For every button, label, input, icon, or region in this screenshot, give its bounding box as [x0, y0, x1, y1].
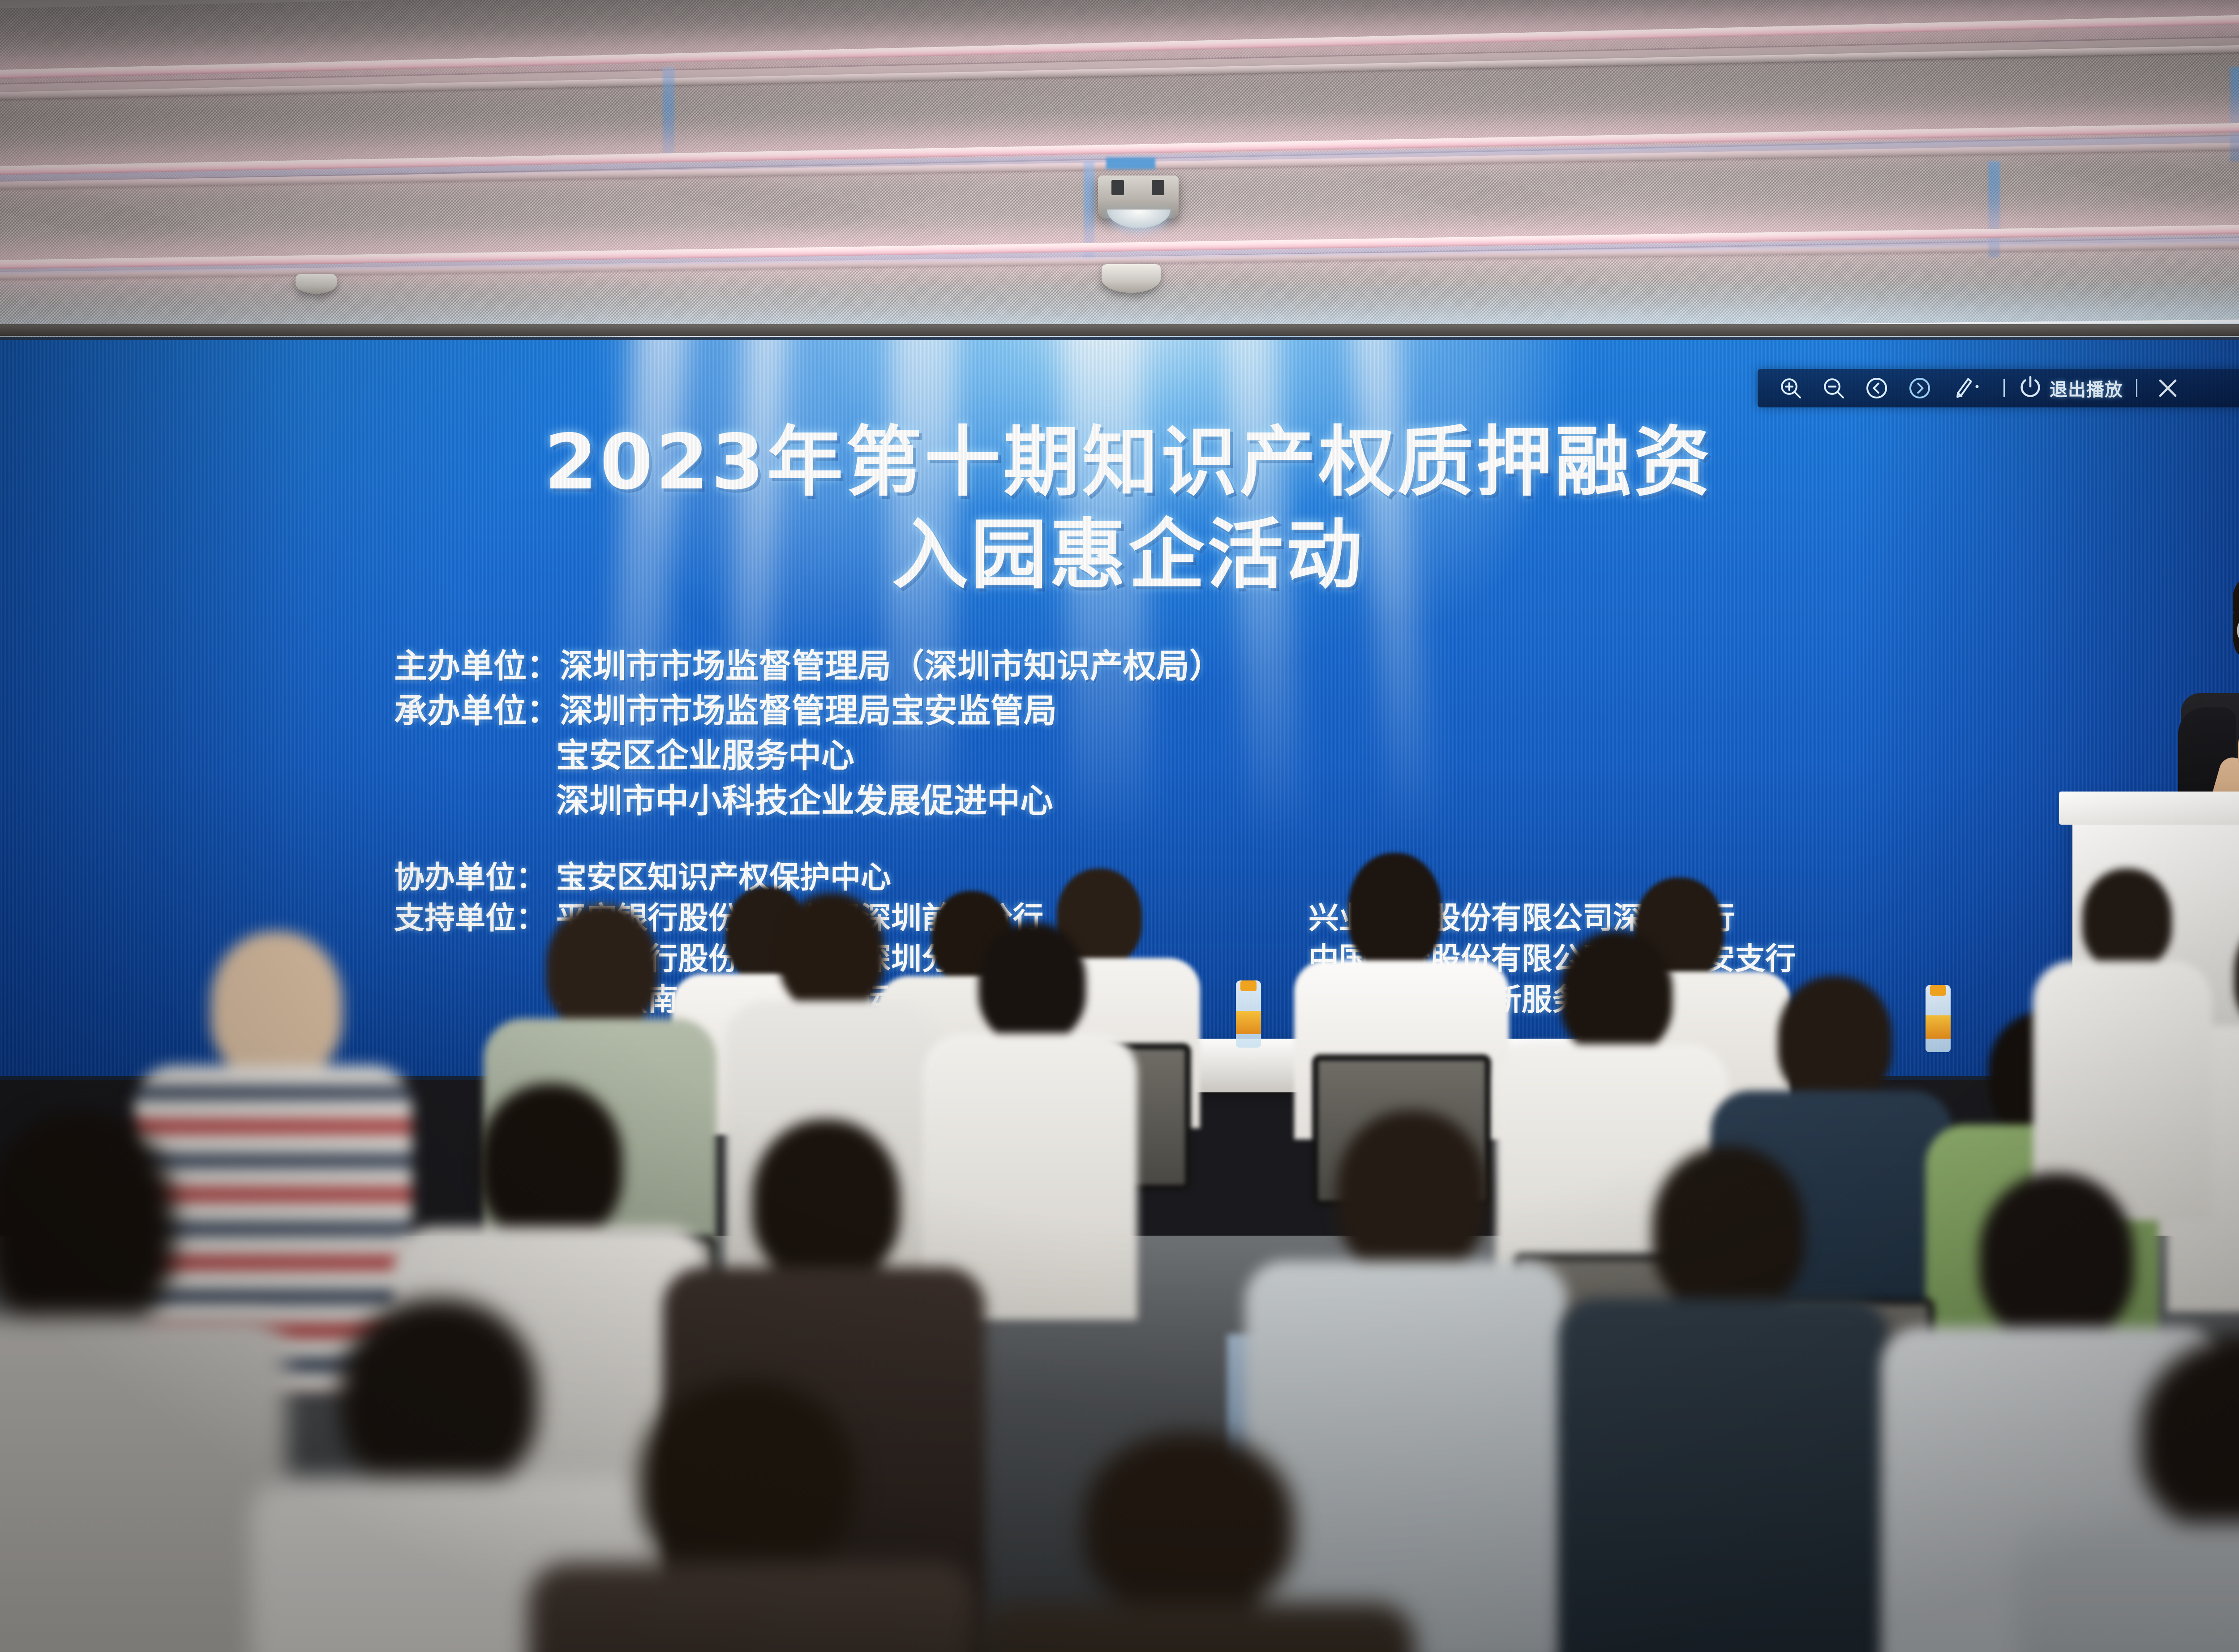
eyeglasses: [2237, 618, 2239, 644]
close-button[interactable]: [2146, 373, 2189, 403]
organizer-value: 深圳市市场监督管理局（深圳市知识产权局）: [560, 647, 1222, 685]
organizer-label: 主办单位：: [394, 647, 560, 685]
slide-title: 2023年第十期知识产权质押融资 入园惠企活动: [0, 416, 2239, 602]
pen-tool-button[interactable]: [1941, 373, 1994, 403]
projector-mount: [1106, 158, 1155, 169]
ceiling-speaker: [1102, 264, 1161, 293]
organizer-value: 深圳市市场监督管理局宝安监管局: [560, 692, 1057, 730]
audience-member-foreground: [976, 1433, 1415, 1652]
organizer-extra: 深圳市中小科技企业发展促进中心: [394, 779, 2006, 822]
audience-member-foreground: [0, 1110, 287, 1652]
slideshow-toolbar[interactable]: 退出播放: [1758, 369, 2239, 407]
audience-member-foreground: [2015, 1334, 2239, 1652]
audience-member-foreground: [528, 1379, 976, 1652]
organizer-extra: 宝安区企业服务中心: [394, 734, 2006, 777]
conference-hall-scene: 2023年第十期知识产权质押融资 入园惠企活动 主办单位：深圳市市场监督管理局（…: [0, 0, 2239, 1652]
zoom-in-button[interactable]: [1769, 373, 1812, 403]
zoom-out-button[interactable]: [1812, 373, 1855, 403]
ceiling: [0, 0, 2239, 367]
ceiling-projector: [1098, 175, 1179, 218]
podium-top-surface: [2059, 792, 2239, 825]
ceiling-blue-accent: [2230, 67, 2239, 161]
slide-title-line2: 入园惠企活动: [0, 509, 2239, 602]
power-icon: [2017, 374, 2043, 402]
toolbar-separator: [2127, 373, 2146, 403]
previous-slide-button[interactable]: [1855, 373, 1898, 403]
water-bottle: [1236, 980, 1261, 1048]
audience-member: [1558, 1146, 1890, 1652]
slide-title-line1: 2023年第十期知识产权质押融资: [544, 418, 1712, 507]
exit-playback-label: 退出播放: [2050, 375, 2123, 401]
coorganizer-label: 协办单位：: [394, 857, 556, 898]
next-slide-button[interactable]: [1898, 373, 1941, 403]
ceiling-speaker: [296, 274, 337, 294]
organizer-row: 承办单位：深圳市市场监督管理局宝安监管局: [394, 689, 2006, 732]
ceiling-edge-trim: [0, 324, 2239, 336]
ceiling-blue-accent: [663, 67, 674, 161]
organizer-row: 主办单位：深圳市市场监督管理局（深圳市知识产权局）: [394, 645, 2006, 688]
organizer-label: 承办单位：: [394, 692, 560, 730]
toolbar-separator: [1994, 373, 2014, 403]
exit-playback-button[interactable]: 退出播放: [2014, 374, 2127, 402]
slide-organizers: 主办单位：深圳市市场监督管理局（深圳市知识产权局） 承办单位：深圳市市场监督管理…: [394, 645, 2006, 824]
audience-member: [2033, 869, 2212, 1218]
